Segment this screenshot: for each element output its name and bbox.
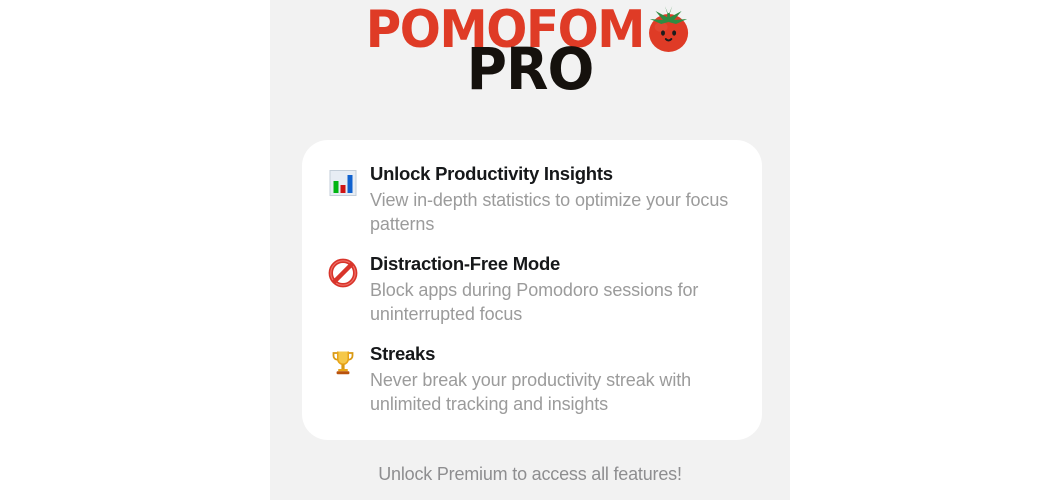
premium-upsell-note: Unlock Premium to access all features! <box>270 462 790 486</box>
feature-text-block: Unlock Productivity Insights View in-dep… <box>370 162 736 236</box>
prohibited-icon <box>328 252 370 296</box>
feature-card: Unlock Productivity Insights View in-dep… <box>302 140 762 440</box>
feature-row-streaks: Streaks Never break your productivity st… <box>328 342 736 416</box>
feature-text-block: Streaks Never break your productivity st… <box>370 342 736 416</box>
trophy-icon <box>328 342 370 386</box>
feature-description: Block apps during Pomodoro sessions for … <box>370 278 736 326</box>
feature-title: Streaks <box>370 342 736 366</box>
bar-chart-icon <box>328 162 370 206</box>
feature-row-distraction-free: Distraction-Free Mode Block apps during … <box>328 252 736 326</box>
feature-description: View in-depth statistics to optimize you… <box>370 188 736 236</box>
logo-wordmark-pro: PRO <box>283 38 777 100</box>
screen: POMOFOM <box>0 0 1046 500</box>
feature-row-insights: Unlock Productivity Insights View in-dep… <box>328 162 736 236</box>
feature-description: Never break your productivity streak wit… <box>370 368 736 416</box>
feature-title: Unlock Productivity Insights <box>370 162 736 186</box>
feature-title: Distraction-Free Mode <box>370 252 736 276</box>
app-logo: POMOFOM <box>270 0 790 118</box>
app-panel: POMOFOM <box>270 0 790 500</box>
feature-text-block: Distraction-Free Mode Block apps during … <box>370 252 736 326</box>
